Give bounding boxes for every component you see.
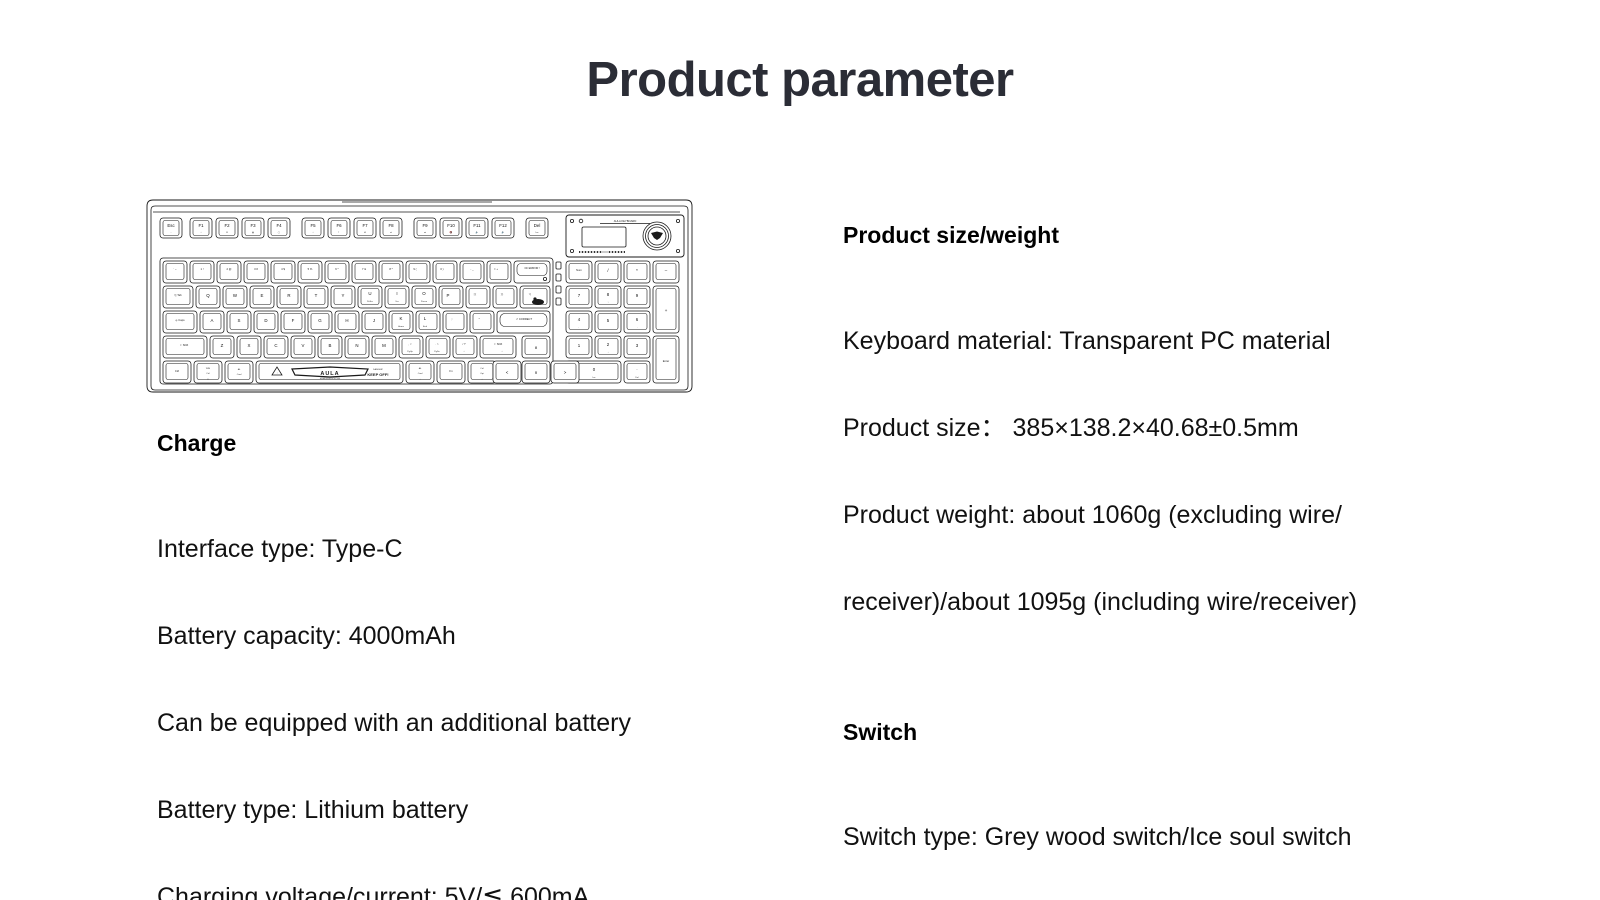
svg-text:X: X [248,343,251,348]
svg-text:F6: F6 [336,223,342,228]
svg-text:🔉: 🔉 [476,231,479,234]
svg-text:E: E [261,293,264,298]
spec-line: Charging voltage/current: 5V/≦ 600mA [157,883,817,900]
svg-text:S: S [238,318,241,323]
lines-charge: Interface type: Type-C Battery capacity:… [157,477,817,900]
svg-text:WIN: WIN [206,368,211,370]
svg-text:↓: ↓ [607,351,608,354]
svg-text:⏮: ⏮ [364,231,366,234]
svg-text:1 !: 1 ! [201,267,204,271]
svg-text:\ |: \ | [529,292,531,296]
svg-text:Del: Del [635,377,639,379]
svg-text:O: O [422,291,426,296]
svg-text:N: N [355,343,358,348]
lines-size-weight: Keyboard material: Transparent PC materi… [843,269,1543,675]
svg-text:☼: ☼ [419,378,421,381]
svg-text:Fn: Fn [449,369,453,373]
svg-text:C: C [274,343,277,348]
svg-text:T: T [315,293,318,298]
svg-text:Enter: Enter [663,359,670,363]
spec-block-charge: Charge Interface type: Type-C Battery ca… [157,430,817,900]
number-row: ` ~ 1 ! 2 @ 3 # 4 $ 5 % 6 ^ 7 & 8 * 9 ( … [163,261,550,283]
svg-text:☼: ☼ [481,378,483,381]
svg-text:🔇: 🔇 [450,231,453,234]
svg-text:V: V [302,343,305,348]
svg-text:☼: ☼ [463,350,465,353]
spec-block-size-weight: Product size/weight Keyboard material: T… [843,222,1543,675]
svg-text:5 %: 5 % [308,267,313,271]
svg-text:R: R [287,293,290,298]
svg-text:U: U [368,291,371,296]
svg-text:KEEP OFF!: KEEP OFF! [367,372,388,377]
brand-text: AULA KEYBOARD [614,219,637,223]
svg-text:F7: F7 [362,223,368,228]
svg-text:⇧ Shift: ⇧ Shift [494,342,503,346]
keyboard-line-art-svg: .kbl { fill:#fff; stroke:#1a1a1a; stroke… [142,192,694,402]
heading-size-weight: Product size/weight [843,222,1543,250]
svg-text:2 @: 2 @ [227,267,232,271]
svg-text:' ": ' " [478,317,480,321]
svg-text:F1: F1 [198,223,204,228]
keyboard-illustration: .kbl { fill:#fff; stroke:#1a1a1a; stroke… [142,192,694,402]
svg-text:.: . [636,366,637,371]
svg-text:>: > [564,370,567,375]
svg-text:[ {: [ { [474,292,476,296]
svg-text:Home: Home [398,326,405,328]
svg-text:J: J [373,318,375,323]
page-title: Product parameter [0,52,1600,108]
svg-text:PgDn: PgDn [434,351,440,353]
svg-text:☼: ☼ [200,231,202,234]
heading-switch: Switch [843,719,1543,747]
svg-text:F4: F4 [276,223,282,228]
svg-text:→: → [636,327,638,329]
svg-text:Cmd: Cmd [237,374,242,376]
svg-text:Scr: Scr [395,300,399,303]
svg-text:Alt: Alt [238,368,241,371]
heading-charge: Charge [157,430,817,458]
svg-text:⏭: ⏭ [424,231,426,234]
spec-line: Battery type: Lithium battery [157,796,817,825]
svg-text:H: H [345,318,348,323]
spec-line: Product weight: about 1060g (excluding w… [843,501,1543,530]
spec-line: Can be equipped with an additional batte… [157,709,817,738]
svg-text:] }: ] } [501,292,503,296]
control-panel: AULA KEYBOARD [566,215,684,257]
svg-text:3 #: 3 # [254,267,258,271]
lines-switch: Switch type: Grey wood switch/Ice soul s… [843,765,1543,900]
svg-text:PgUp: PgUp [407,351,413,353]
svg-text:∧: ∧ [534,345,537,350]
svg-text:Ctrl: Ctrl [206,372,210,375]
svg-text:F12: F12 [499,223,507,228]
svg-text:∨: ∨ [534,370,537,375]
svg-text:☼: ☼ [312,231,314,234]
svg-text:F: F [292,318,295,323]
svg-text:☖: ☖ [207,378,209,381]
svg-text:K: K [400,316,403,321]
spec-block-switch: Switch Switch type: Grey wood switch/Ice… [843,719,1543,900]
svg-text:A: A [211,318,214,323]
svg-text:4 $: 4 $ [281,267,285,271]
svg-text:. >: . > [435,342,438,346]
svg-text:⎗ Tab: ⎗ Tab [174,293,182,297]
svg-text:0 ): 0 ) [440,267,443,271]
svg-text:` ~: ` ~ [173,267,177,271]
svg-text:I: I [396,291,397,296]
spec-line: Product size： 385×138.2×40.68±0.5mm [843,414,1543,443]
svg-text:F3: F3 [250,223,256,228]
home-row: ⎆ Caps A S D F G H J KHome LEnd ; : ' " … [163,311,550,333]
svg-text:Alt: Alt [419,367,422,370]
bottom-row: Ctrl WINCtrl☖ AltCmd ! AULA ADVANCED ARC… [163,361,496,383]
svg-text:<: < [506,370,509,375]
svg-text:Q: Q [206,293,210,298]
shift-row: ⇧ Shift Z X C V B N M , <PgUp . >PgDn / … [163,336,516,358]
svg-text:Cmd: Cmd [418,373,423,375]
svg-text:, <: , < [408,342,411,346]
svg-text:F10: F10 [447,223,455,228]
svg-text:Y: Y [342,293,345,298]
svg-text:/ ?: / ? [463,342,466,346]
svg-text:D: D [264,318,267,323]
left-spec-column: Charge Interface type: Type-C Battery ca… [157,430,817,900]
spec-line: receiver)/about 1095g (including wire/re… [843,588,1543,617]
svg-text:Z: Z [221,343,224,348]
svg-text:☾: ☾ [338,231,340,234]
right-spec-column: Product size/weight Keyboard material: T… [843,222,1543,900]
svg-text:+: + [665,308,668,313]
svg-text:9 (: 9 ( [413,267,416,271]
svg-text:F8: F8 [388,223,394,228]
spec-line: Keyboard material: Transparent PC materi… [843,327,1543,356]
svg-text:⏎ CORRECT: ⏎ CORRECT [516,317,533,321]
spec-line: Interface type: Type-C [157,535,817,564]
svg-text:M: M [382,343,386,348]
spec-line: Battery capacity: 4000mAh [157,622,817,651]
svg-text:= +: = + [494,268,498,271]
svg-text:DANGER!: DANGER! [373,368,383,371]
svg-text:7 &: 7 & [362,267,366,271]
svg-text:G: G [318,318,322,323]
svg-text:⏯: ⏯ [390,231,392,234]
svg-text:Num: Num [576,268,582,272]
svg-text:B: B [329,343,332,348]
svg-text:F2: F2 [224,223,230,228]
svg-text:; :: ; : [451,318,453,321]
svg-text:F9: F9 [422,223,428,228]
svg-text:Pause: Pause [421,301,428,303]
svg-text:☼: ☼ [501,350,503,353]
svg-text:▦: ▦ [252,231,254,234]
spacebar: ! AULA ADVANCED ARCHITECTURE DANGER! KEE… [256,361,403,383]
svg-text:Del: Del [534,223,541,228]
svg-text:8 *: 8 * [389,267,392,271]
svg-text:Ctrl: Ctrl [175,369,180,373]
svg-text:Esc: Esc [167,223,175,228]
svg-text:Ctrl: Ctrl [480,367,484,370]
svg-text:P: P [447,293,450,298]
svg-text:⇧ Shift: ⇧ Shift [180,343,189,347]
spec-line: Switch type: Grey wood switch/Ice soul s… [843,823,1543,852]
svg-text:AULA: AULA [320,371,339,377]
svg-text:*: * [636,268,638,273]
svg-text:F5: F5 [310,223,316,228]
svg-text:⌫ ERROR !: ⌫ ERROR ! [524,266,540,270]
svg-text:←: ← [578,327,580,329]
svg-text:↑: ↑ [607,301,608,304]
svg-text:PrtScr: PrtScr [367,300,373,303]
svg-text:☷: ☷ [226,231,228,234]
svg-text:- _: - _ [470,268,474,271]
svg-text:Opt: Opt [480,372,484,375]
product-parameter-page: Product parameter .kbl { fill:#fff; stro… [0,0,1600,900]
svg-text:F11: F11 [473,223,481,228]
svg-text:⎆ Caps: ⎆ Caps [175,318,185,322]
